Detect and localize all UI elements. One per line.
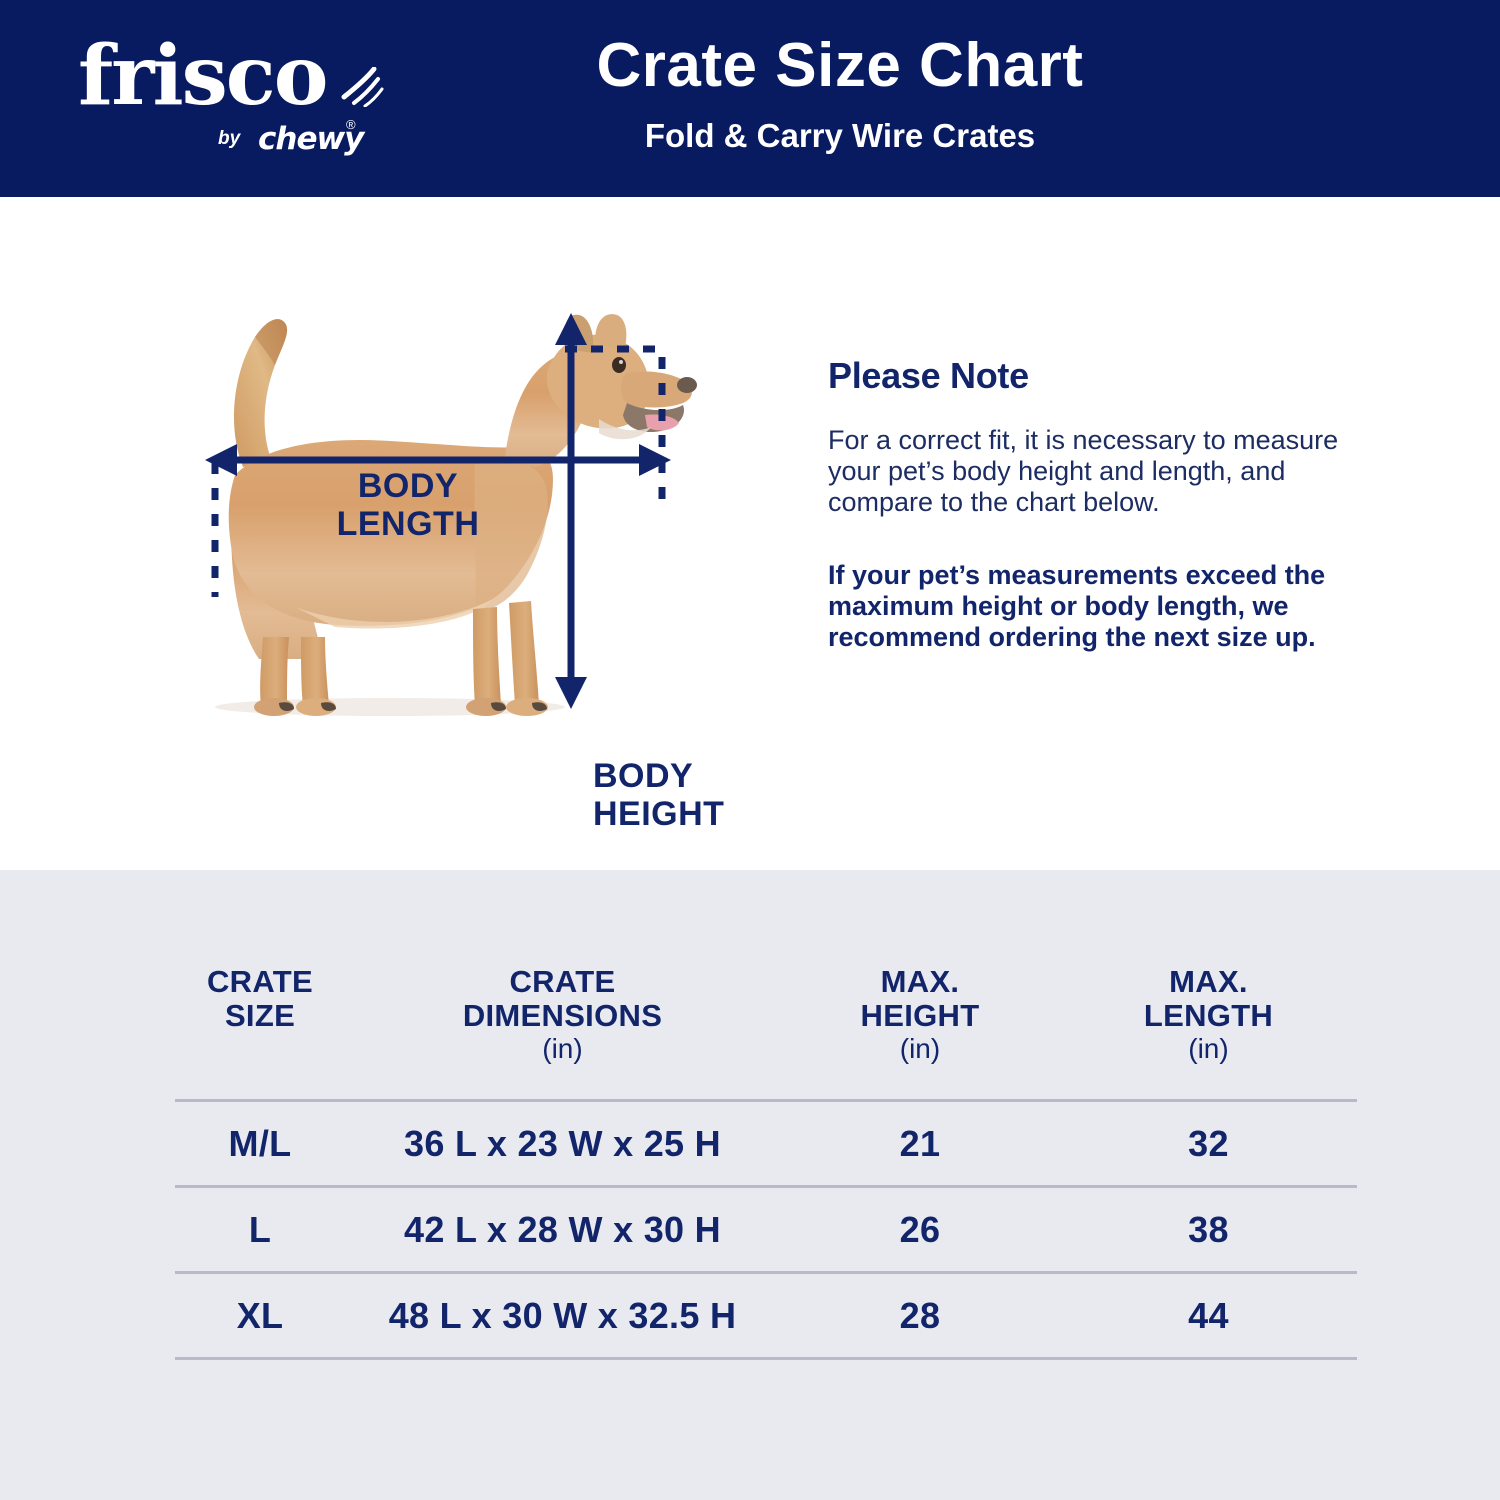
column-header-max-length: MAX. LENGTH (in) — [1060, 965, 1357, 1101]
page-title: Crate Size Chart — [0, 30, 1500, 101]
please-note-panel: Please Note For a correct fit, it is nec… — [828, 355, 1358, 653]
body-height-label: BODY HEIGHT — [593, 757, 793, 833]
cell-max-height: 26 — [780, 1187, 1060, 1273]
header-line1: CRATE — [207, 964, 313, 999]
table-row: L 42 L x 28 W x 30 H 26 38 — [175, 1187, 1357, 1273]
cell-max-length: 38 — [1060, 1187, 1357, 1273]
table-body: M/L 36 L x 23 W x 25 H 21 32 L 42 L x 28… — [175, 1101, 1357, 1359]
cell-max-length: 32 — [1060, 1101, 1357, 1187]
table-row: XL 48 L x 30 W x 32.5 H 28 44 — [175, 1273, 1357, 1359]
table-row: M/L 36 L x 23 W x 25 H 21 32 — [175, 1101, 1357, 1187]
header-line1: MAX. — [881, 964, 960, 999]
body-height-label-line1: BODY — [593, 757, 793, 795]
header-line2: HEIGHT — [861, 998, 980, 1033]
header-line2: LENGTH — [1144, 998, 1273, 1033]
body-height-label-line2: HEIGHT — [593, 795, 793, 833]
cell-max-height: 28 — [780, 1273, 1060, 1359]
cell-crate-dimensions: 48 L x 30 W x 32.5 H — [345, 1273, 780, 1359]
header-line2: DIMENSIONS — [463, 998, 662, 1033]
cell-max-height: 21 — [780, 1101, 1060, 1187]
table-header-row: CRATE SIZE CRATE DIMENSIONS (in) MAX. HE… — [175, 965, 1357, 1101]
body-length-label: BODY LENGTH — [293, 467, 523, 543]
column-header-crate-size: CRATE SIZE — [175, 965, 345, 1101]
page-header: frisco ® by chewy Crate Size Chart Fold … — [0, 0, 1500, 197]
please-note-paragraph-2: If your pet’s measurements exceed the ma… — [828, 560, 1358, 653]
body-length-label-line1: BODY — [293, 467, 523, 505]
body-length-arrow-right — [639, 444, 671, 476]
cell-crate-size: XL — [175, 1273, 345, 1359]
column-header-max-height: MAX. HEIGHT (in) — [780, 965, 1060, 1101]
body-height-arrow-bottom — [555, 677, 587, 709]
cell-crate-size: M/L — [175, 1101, 345, 1187]
header-line1: CRATE — [510, 964, 616, 999]
please-note-paragraph-1: For a correct fit, it is necessary to me… — [828, 425, 1358, 518]
size-table-section: CRATE SIZE CRATE DIMENSIONS (in) MAX. HE… — [0, 870, 1500, 1500]
header-line1: MAX. — [1169, 964, 1248, 999]
header-unit: (in) — [780, 1033, 1060, 1065]
cell-crate-dimensions: 42 L x 28 W x 30 H — [345, 1187, 780, 1273]
crate-size-table: CRATE SIZE CRATE DIMENSIONS (in) MAX. HE… — [175, 965, 1357, 1360]
column-header-crate-dimensions: CRATE DIMENSIONS (in) — [345, 965, 780, 1101]
header-unit: (in) — [1060, 1033, 1357, 1065]
header-line2: SIZE — [225, 998, 295, 1033]
body-length-label-line2: LENGTH — [293, 505, 523, 543]
cell-max-length: 44 — [1060, 1273, 1357, 1359]
cell-crate-size: L — [175, 1187, 345, 1273]
page-subtitle: Fold & Carry Wire Crates — [0, 117, 1500, 155]
table-head: CRATE SIZE CRATE DIMENSIONS (in) MAX. HE… — [175, 965, 1357, 1101]
please-note-title: Please Note — [828, 355, 1358, 397]
header-unit: (in) — [345, 1033, 780, 1065]
dog-measurement-diagram: BODY LENGTH BODY HEIGHT — [175, 307, 795, 847]
cell-crate-dimensions: 36 L x 23 W x 25 H — [345, 1101, 780, 1187]
body-length-arrow-left — [205, 444, 237, 476]
measurement-section: BODY LENGTH BODY HEIGHT Please Note For … — [0, 197, 1500, 870]
